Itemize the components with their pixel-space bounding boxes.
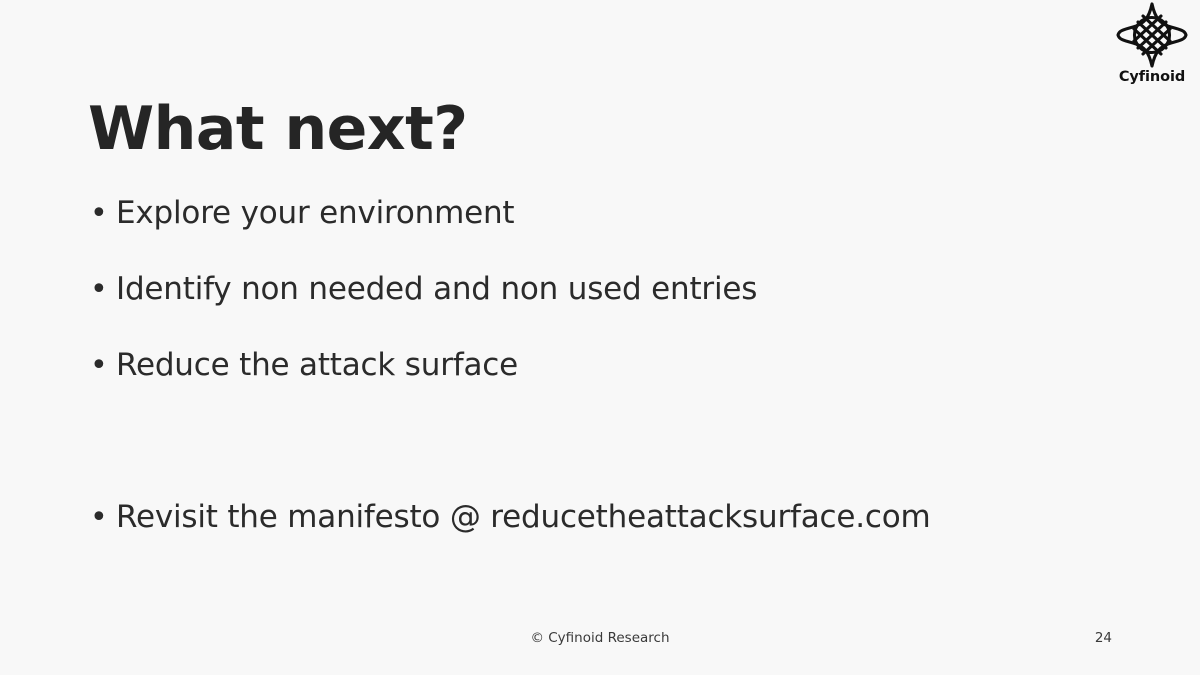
list-item: • Explore your environment <box>90 196 1110 272</box>
page-title: What next? <box>88 98 468 161</box>
slide-canvas: Cyfinoid What next? • Explore your envir… <box>0 0 1200 675</box>
list-item-label: Identify non needed and non used entries <box>116 272 1110 306</box>
bullet-list: • Explore your environment • Identify no… <box>90 196 1110 576</box>
logo-wordmark: Cyfinoid <box>1112 70 1192 85</box>
footer-page-number: 24 <box>1095 632 1112 646</box>
list-item-label: Reduce the attack surface <box>116 348 1110 382</box>
list-item-label: Explore your environment <box>116 196 1110 230</box>
list-item: • Reduce the attack surface <box>90 348 1110 424</box>
bullet-marker-icon: • <box>90 349 116 383</box>
cyfinoid-star-knot-icon <box>1116 2 1188 68</box>
list-item: • Revisit the manifesto @ reducetheattac… <box>90 500 1110 576</box>
bullet-marker-icon: • <box>90 273 116 307</box>
bullet-marker-icon: • <box>90 197 116 231</box>
brand-logo: Cyfinoid <box>1112 2 1192 96</box>
footer-copyright: © Cyfinoid Research <box>0 632 1200 646</box>
list-item-spacer <box>90 424 1110 500</box>
list-item-label: Revisit the manifesto @ reducetheattacks… <box>116 500 1110 534</box>
list-item: • Identify non needed and non used entri… <box>90 272 1110 348</box>
bullet-marker-icon: • <box>90 501 116 535</box>
